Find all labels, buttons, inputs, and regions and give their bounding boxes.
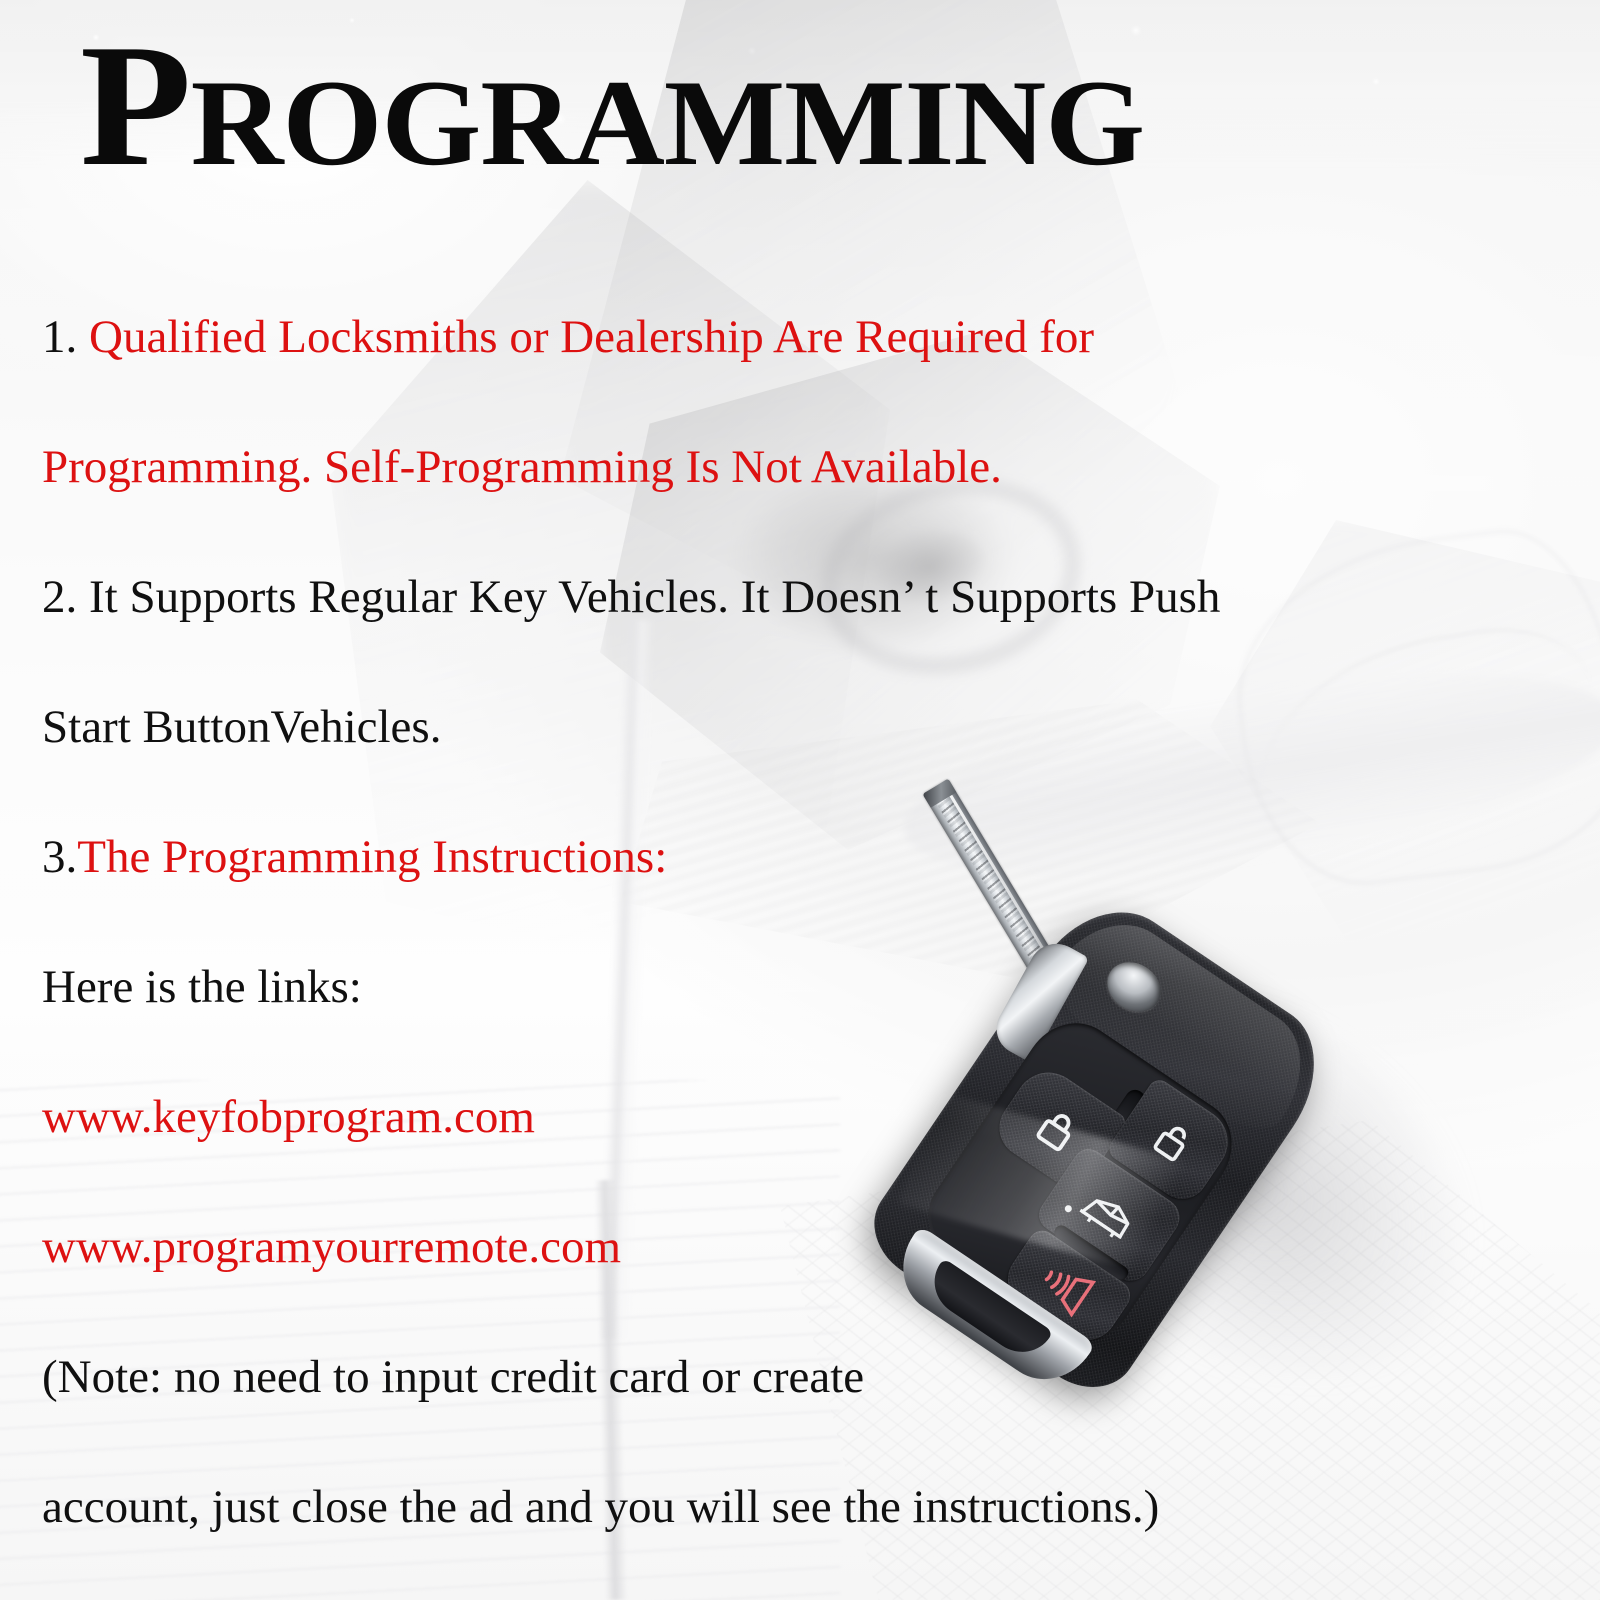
item-2-text-a: 2. It Supports Regular Key Vehicles. It … — [42, 571, 1220, 623]
item-2-text-b: Start ButtonVehicles. — [42, 701, 441, 753]
links-intro-line: Here is the links: — [42, 922, 1582, 1052]
instruction-line-3: 2. It Supports Regular Key Vehicles. It … — [42, 532, 1582, 662]
item-1-text-b: Programming. Self-Programming Is Not Ava… — [42, 441, 1002, 493]
note-line-1: (Note: no need to input credit card or c… — [42, 1312, 1582, 1442]
item-3-number: 3. — [42, 831, 77, 883]
instruction-line-5: 3.The Programming Instructions: — [42, 792, 1582, 922]
page-title: Programming — [80, 18, 1144, 193]
instruction-line-4: Start ButtonVehicles. — [42, 662, 1582, 792]
link-line-1[interactable]: www.keyfobprogram.com — [42, 1052, 1582, 1182]
instruction-line-1: 1. Qualified Locksmiths or Dealership Ar… — [42, 272, 1582, 402]
programming-info-graphic: Programming 1. Qualified Locksmiths or D… — [0, 0, 1600, 1600]
link-programyourremote[interactable]: www.programyourremote.com — [42, 1221, 621, 1273]
links-intro-text: Here is the links: — [42, 961, 362, 1013]
instructions-body: 1. Qualified Locksmiths or Dealership Ar… — [42, 272, 1582, 1572]
item-1-text-a: Qualified Locksmiths or Dealership Are R… — [89, 311, 1094, 363]
item-3-text: The Programming Instructions: — [77, 831, 667, 883]
instruction-line-2: Programming. Self-Programming Is Not Ava… — [42, 402, 1582, 532]
link-line-2[interactable]: www.programyourremote.com — [42, 1182, 1582, 1312]
link-keyfobprogram[interactable]: www.keyfobprogram.com — [42, 1091, 535, 1143]
note-line-2: account, just close the ad and you will … — [42, 1442, 1582, 1572]
note-text-a: (Note: no need to input credit card or c… — [42, 1351, 864, 1403]
item-1-number: 1. — [42, 311, 89, 363]
note-text-b: account, just close the ad and you will … — [42, 1481, 1159, 1533]
